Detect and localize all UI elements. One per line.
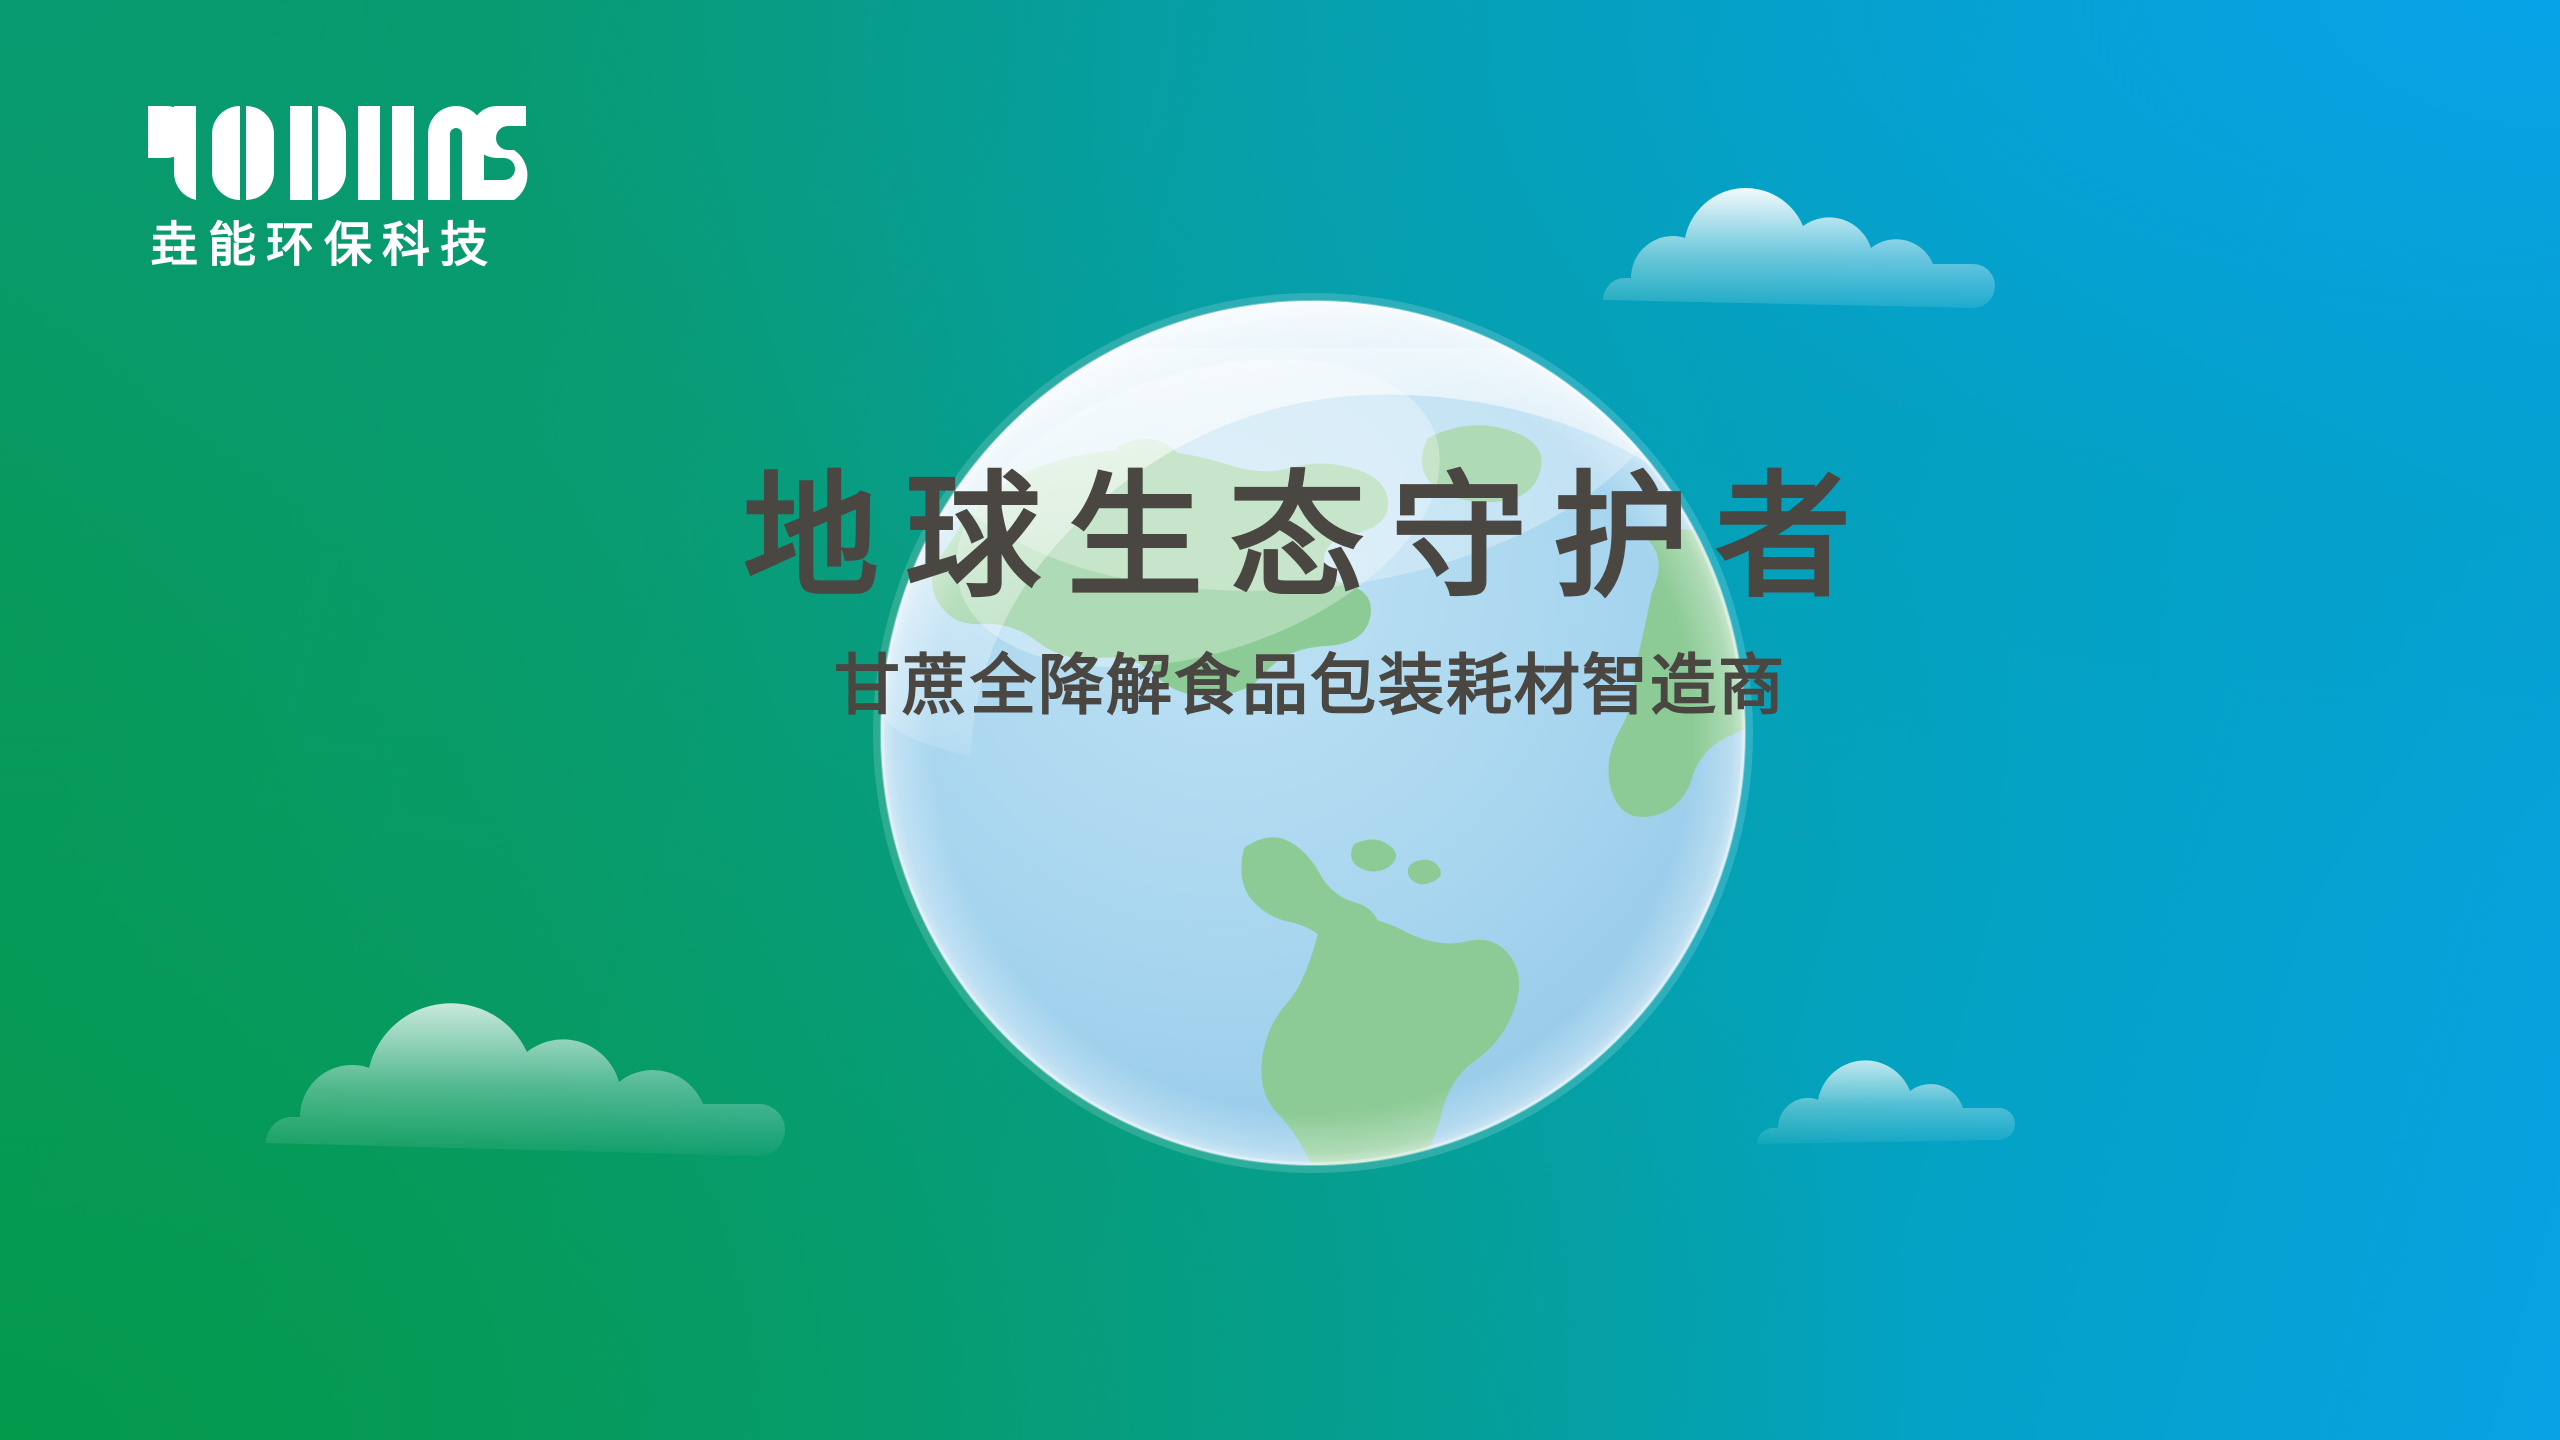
hero-banner: 垚能环保科技 地球生态守护者 甘蔗全降解食品包装耗材智造商 [0,0,2560,1440]
earth-globe-icon [868,288,1758,1178]
hero-subheadline: 甘蔗全降解食品包装耗材智造商 [60,646,2560,725]
brand-logo[interactable]: 垚能环保科技 [140,98,560,270]
company-name-cn: 垚能环保科技 [150,220,560,270]
cloud-icon-bottom-right [1745,1040,2045,1160]
youns-wordmark-icon [140,98,540,208]
cloud-icon-bottom-left [240,925,940,1165]
hero-text-block: 地球生态守护者 甘蔗全降解食品包装耗材智造商 [0,465,2560,725]
hero-headline: 地球生态守护者 [60,465,2560,612]
